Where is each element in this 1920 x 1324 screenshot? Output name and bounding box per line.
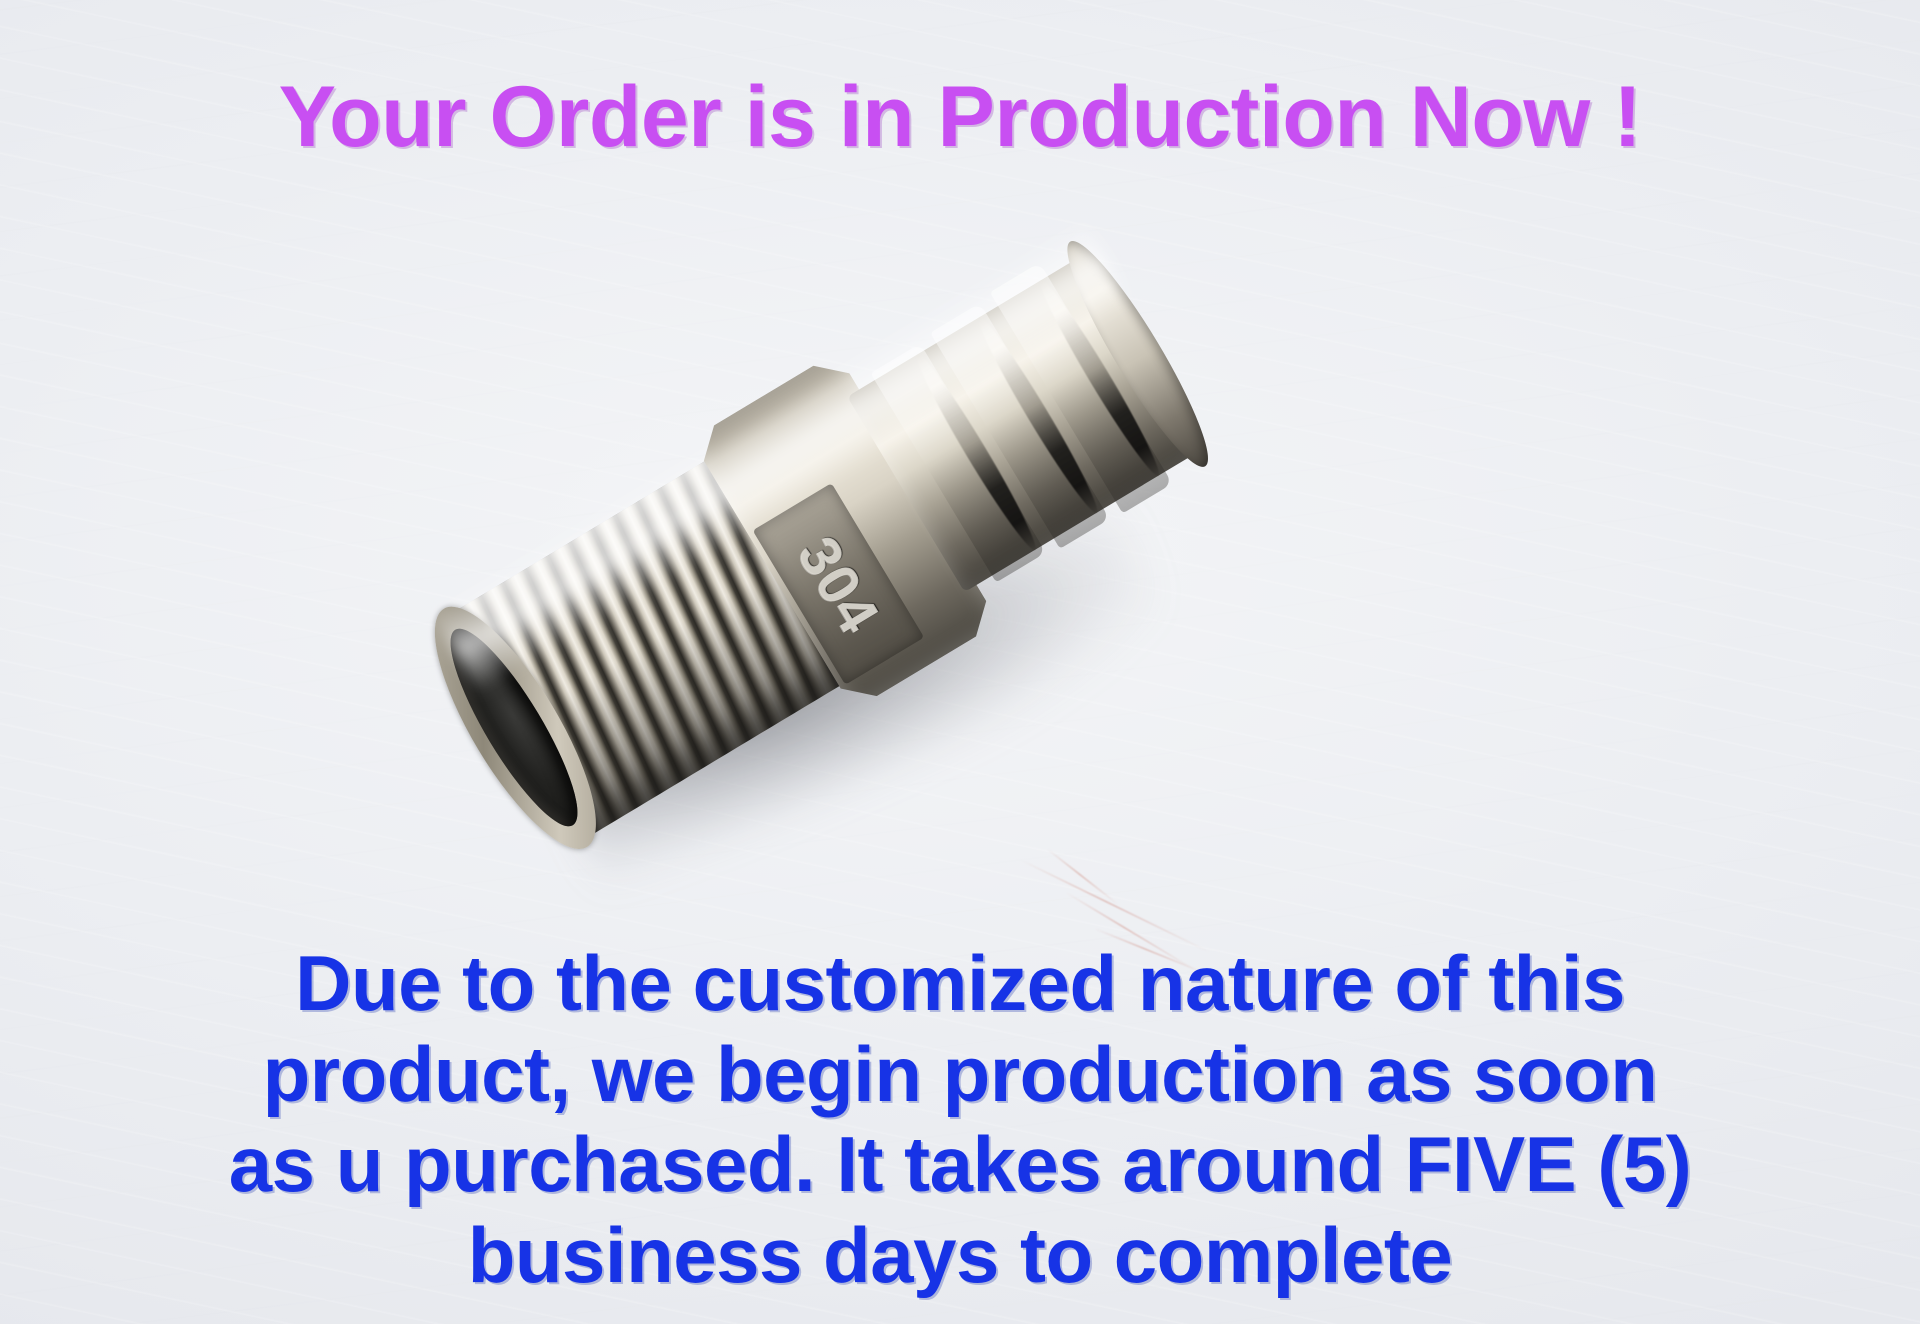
product-photo-hose-barb-fitting: 304: [379, 145, 1271, 955]
notice-line-3: as u purchased. It takes around FIVE (5): [0, 1119, 1920, 1209]
surface-scratch: [1047, 849, 1119, 906]
notice-line-4: business days to complete: [0, 1210, 1920, 1300]
production-notice: Due to the customized nature of this pro…: [0, 938, 1920, 1300]
notice-line-1: Due to the customized nature of this: [0, 938, 1920, 1028]
headline-order-in-production: Your Order is in Production Now !: [0, 74, 1920, 162]
promo-banner: Your Order is in Production Now ! 304 Du…: [0, 0, 1920, 1324]
notice-line-2: product, we begin production as soon: [0, 1029, 1920, 1119]
